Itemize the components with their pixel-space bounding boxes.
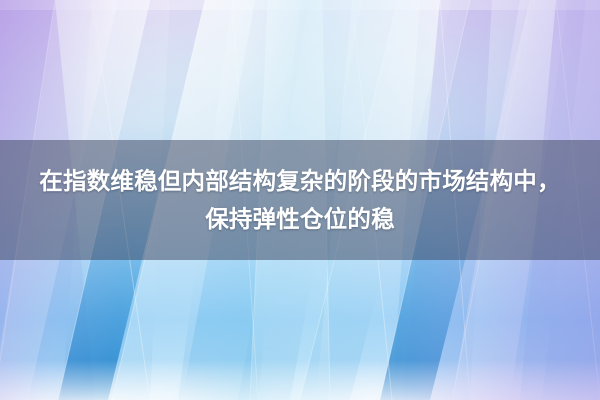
- caption-overlay-band: 在指数维稳但内部结构复杂的阶段的市场结构中， 保持弹性仓位的稳: [0, 140, 600, 260]
- caption-line-1: 在指数维稳但内部结构复杂的阶段的市场结构中，: [33, 162, 566, 200]
- banner-image: 在指数维稳但内部结构复杂的阶段的市场结构中， 保持弹性仓位的稳: [0, 0, 600, 400]
- caption-line-2: 保持弹性仓位的稳: [205, 200, 395, 238]
